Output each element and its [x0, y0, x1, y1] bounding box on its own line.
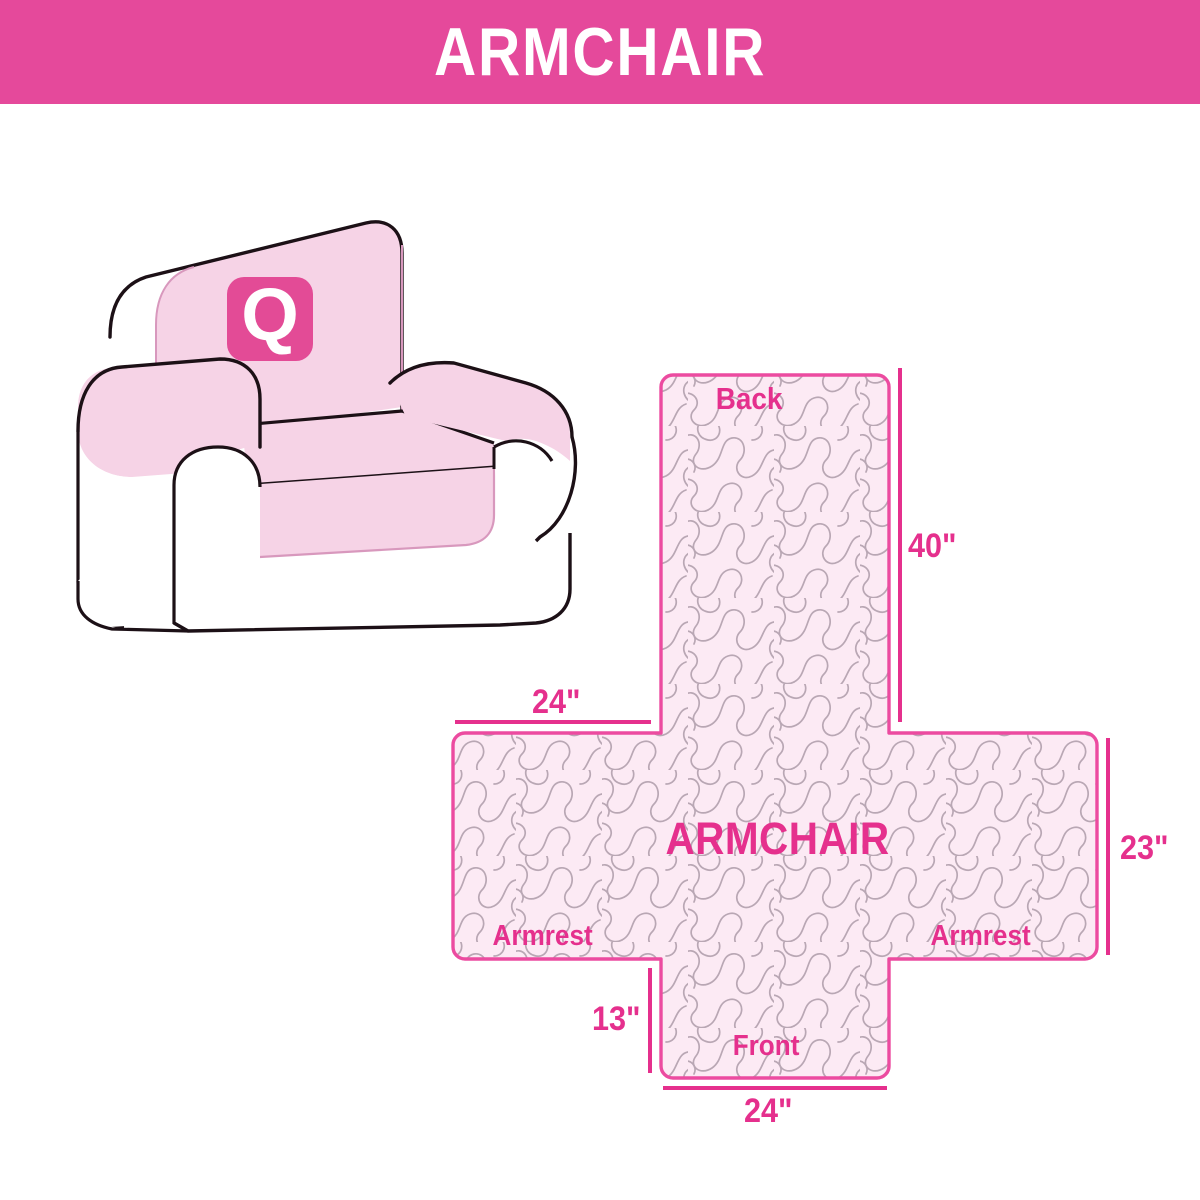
- header-banner: ARMCHAIR: [0, 0, 1200, 104]
- chair-left-arm-inner: [174, 447, 260, 621]
- dimension-label-back-width: 24": [532, 683, 581, 722]
- flat-pattern-diagram: [430, 340, 1190, 1130]
- panel-label-front: Front: [733, 1030, 800, 1063]
- dimension-label-front-height: 13": [592, 1000, 641, 1039]
- page-title: ARMCHAIR: [434, 18, 766, 86]
- brand-logo-badge: Q: [227, 273, 313, 361]
- product-dimension-diagram: ARMCHAIR: [0, 0, 1200, 1200]
- panel-label-center: ARMCHAIR: [665, 813, 889, 865]
- svg-text:Q: Q: [241, 273, 299, 356]
- dimension-label-front-width: 24": [744, 1092, 793, 1131]
- cover-outline: [453, 375, 1097, 1078]
- panel-label-armrest-right: Armrest: [931, 920, 1031, 953]
- panel-label-back: Back: [716, 381, 783, 417]
- panel-label-armrest-left: Armrest: [493, 920, 593, 953]
- dimension-label-center-height: 23": [1120, 829, 1169, 868]
- dimension-label-back-height: 40": [908, 527, 957, 566]
- cover-cross-shape: [453, 375, 1097, 1078]
